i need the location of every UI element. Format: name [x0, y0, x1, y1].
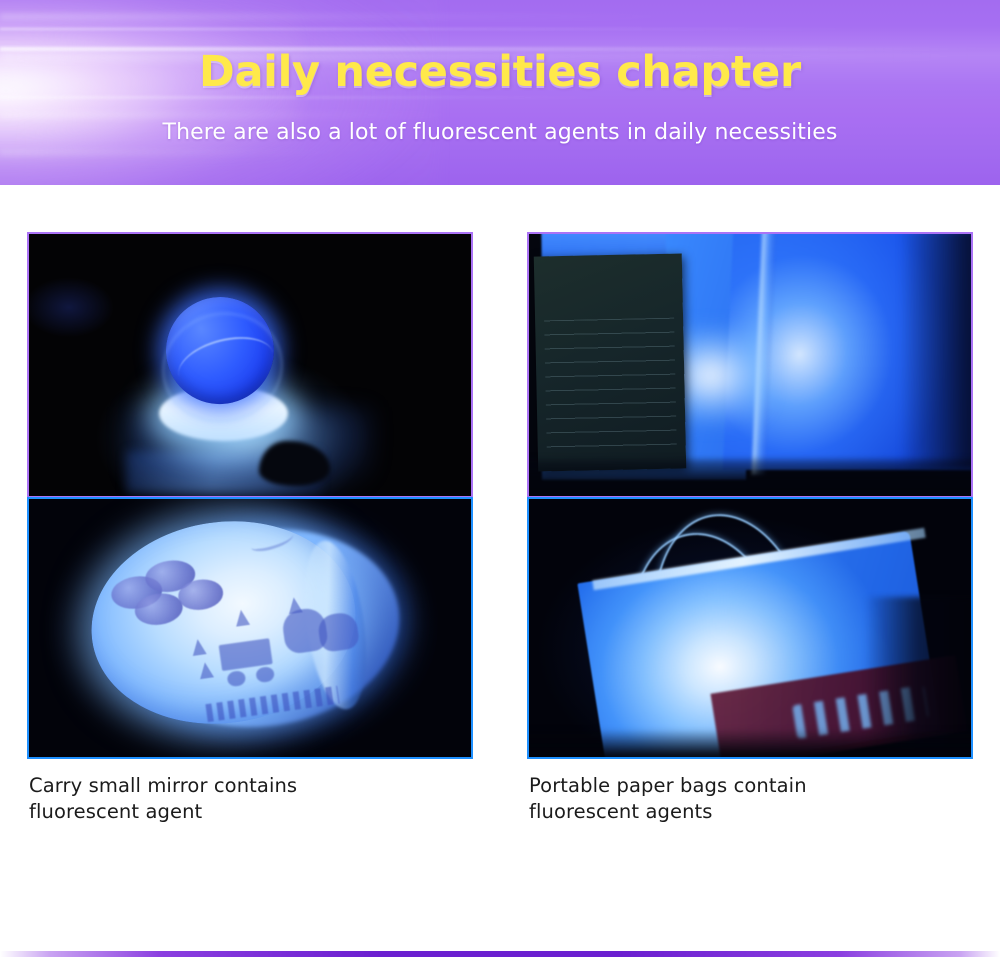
caption-paper-bag: Portable paper bags contain fluorescent … — [529, 773, 969, 825]
photo-bottom-shadow — [527, 729, 973, 759]
page-subtitle: There are also a lot of fluorescent agen… — [0, 120, 1000, 145]
grid-row-2: Carry small mirror contains fluorescent … — [0, 411, 1000, 751]
header-light-streak — [0, 112, 470, 118]
header-light-streak — [0, 28, 880, 30]
printed-party-hat — [287, 596, 303, 614]
printed-cart-wheel — [227, 670, 246, 687]
caption-compact-mirror: Carry small mirror contains fluorescent … — [29, 773, 469, 825]
printed-cart-wheel — [255, 666, 274, 683]
printed-pennant — [191, 638, 207, 656]
photo-compact-mirror — [27, 497, 473, 759]
card-compact-mirror — [27, 497, 473, 759]
grid-row-1: The inner ring of the paper contains a l… — [0, 185, 1000, 411]
printed-pennant — [234, 609, 250, 627]
card-paper-bag — [527, 497, 973, 759]
footer-accent-strip — [0, 951, 1000, 957]
photo-paper-bag — [527, 497, 973, 759]
printed-character — [317, 611, 361, 653]
page-title: Daily necessities chapter — [0, 47, 1000, 97]
header-light-streak — [0, 150, 360, 155]
header-light-streak — [0, 14, 700, 19]
content-grid: The inner ring of the paper contains a l… — [0, 185, 1000, 751]
printed-pennant — [198, 661, 214, 679]
page-header-banner: Daily necessities chapter There are also… — [0, 0, 1000, 185]
